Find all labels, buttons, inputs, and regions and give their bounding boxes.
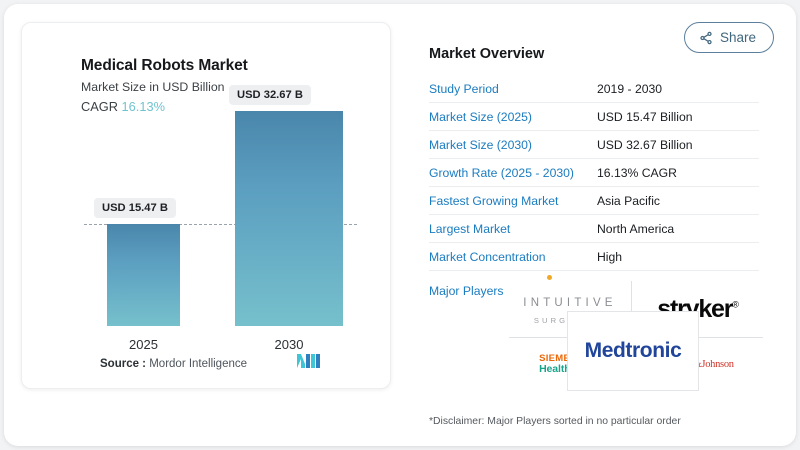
intuitive-dot-icon [547, 275, 552, 280]
table-row: Largest Market North America [429, 215, 759, 243]
table-row: Fastest Growing Market Asia Pacific [429, 187, 759, 215]
cagr-value: 16.13% [122, 99, 165, 114]
bar-label-2030: USD 32.67 B [229, 85, 311, 105]
table-row: Market Size (2030) USD 32.67 Billion [429, 131, 759, 159]
x-tick-2030: 2030 [235, 337, 343, 352]
source-credit: Source : Mordor Intelligence [100, 358, 247, 370]
row-key: Market Size (2030) [429, 138, 597, 152]
row-value: North America [597, 222, 674, 236]
chart-cagr: CAGR 16.13% [81, 99, 165, 114]
cagr-label: CAGR [81, 99, 118, 114]
share-nodes-icon [699, 31, 713, 45]
row-value: USD 32.67 Billion [597, 138, 693, 152]
bar-2025[interactable] [107, 224, 180, 326]
row-value: 16.13% CAGR [597, 166, 677, 180]
row-key: Market Size (2025) [429, 110, 597, 124]
bar-label-2025: USD 15.47 B [94, 198, 176, 218]
table-row: Growth Rate (2025 - 2030) 16.13% CAGR [429, 159, 759, 187]
source-name: Mordor Intelligence [149, 358, 247, 370]
x-tick-2025: 2025 [107, 337, 180, 352]
table-row: Market Size (2025) USD 15.47 Billion [429, 103, 759, 131]
source-label: Source : [100, 358, 146, 370]
row-key: Fastest Growing Market [429, 194, 597, 208]
share-button-label: Share [720, 30, 756, 45]
chart-card: Medical Robots Market Market Size in USD… [21, 22, 391, 389]
medtronic-wordmark: Medtronic [585, 339, 682, 363]
table-row: Study Period 2019 - 2030 [429, 75, 759, 103]
major-players-grid: INTUITIVE SURGICAL® stryker® SIEMENS Hea… [501, 281, 763, 391]
bar-2030[interactable] [235, 111, 343, 326]
row-key: Study Period [429, 82, 597, 96]
intuitive-wordmark: INTUITIVE [523, 298, 616, 310]
logo-medtronic: Medtronic [567, 311, 699, 391]
page-container: Share Medical Robots Market Market Size … [4, 4, 796, 446]
row-value: High [597, 250, 622, 264]
panel-title: Market Overview [429, 46, 759, 62]
table-row: Market Concentration High [429, 243, 759, 271]
row-key: Largest Market [429, 222, 597, 236]
row-value: USD 15.47 Billion [597, 110, 693, 124]
row-value: Asia Pacific [597, 194, 660, 208]
row-key: Market Concentration [429, 250, 597, 264]
chart-title: Medical Robots Market [81, 57, 248, 75]
market-overview-panel: Market Overview Study Period 2019 - 2030… [429, 46, 759, 298]
chart-subtitle: Market Size in USD Billion [81, 80, 225, 94]
row-key: Growth Rate (2025 - 2030) [429, 166, 597, 180]
bar-chart-plot: USD 15.47 B USD 32.67 B 2025 2030 [39, 118, 375, 358]
disclaimer-text: *Disclaimer: Major Players sorted in no … [429, 416, 681, 427]
row-value: 2019 - 2030 [597, 82, 662, 96]
mordor-intelligence-logo [297, 353, 321, 374]
